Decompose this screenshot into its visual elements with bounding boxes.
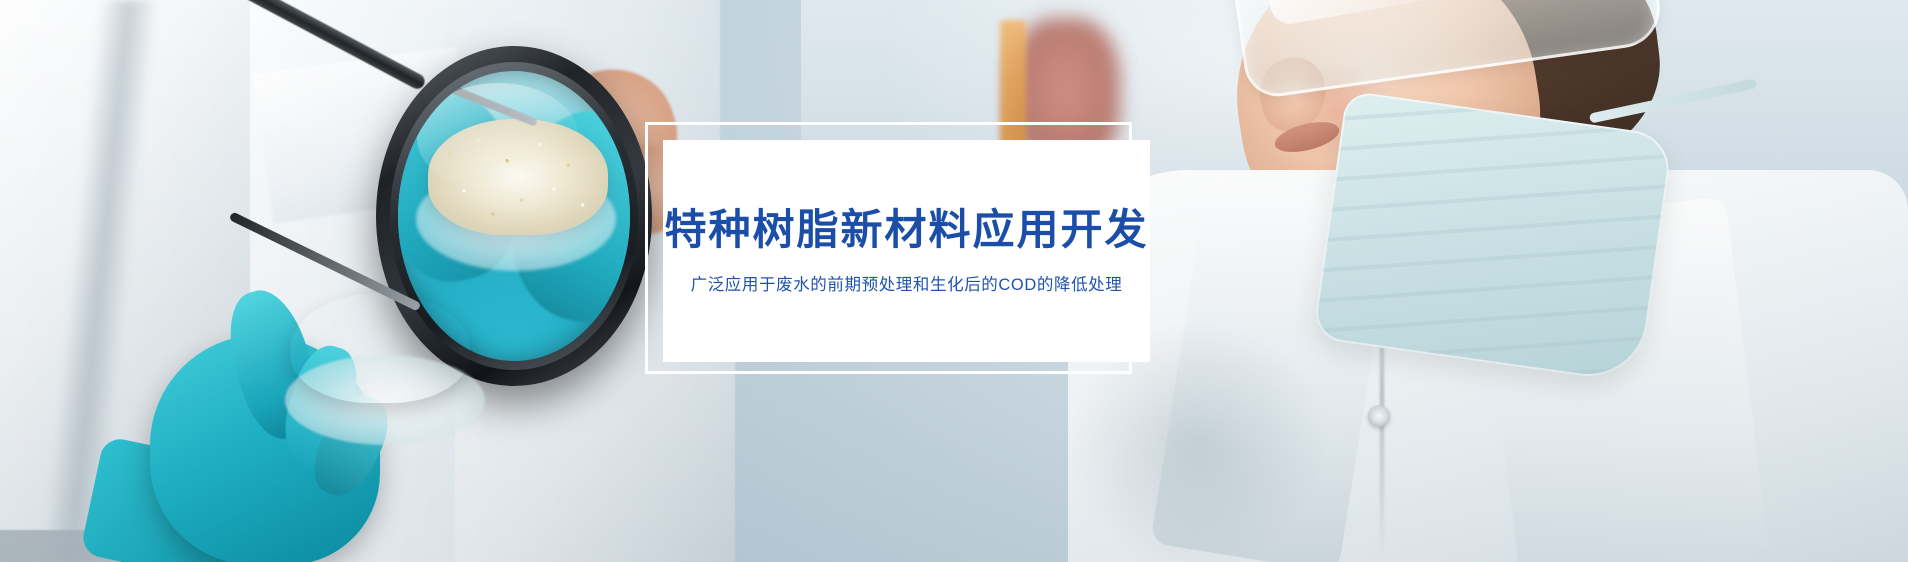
female-scientist	[1028, 0, 1908, 562]
banner-root: 特种树脂新材料应用开发 广泛应用于废水的前期预处理和生化后的COD的降低处理	[0, 0, 1908, 562]
page-subtitle: 广泛应用于废水的前期预处理和生化后的COD的降低处理	[691, 271, 1123, 295]
goggles-strap	[1629, 0, 1908, 1]
page-title: 特种树脂新材料应用开发	[664, 207, 1148, 253]
resin-beads-sample	[290, 293, 470, 403]
text-panel: 特种树脂新材料应用开发 广泛应用于废水的前期预处理和生化后的COD的降低处理	[663, 140, 1150, 362]
face-mask-outline	[1312, 90, 1674, 383]
lab-coat-button-icon	[1368, 405, 1390, 427]
gloved-hand	[150, 265, 480, 562]
lens-glare	[417, 83, 579, 193]
